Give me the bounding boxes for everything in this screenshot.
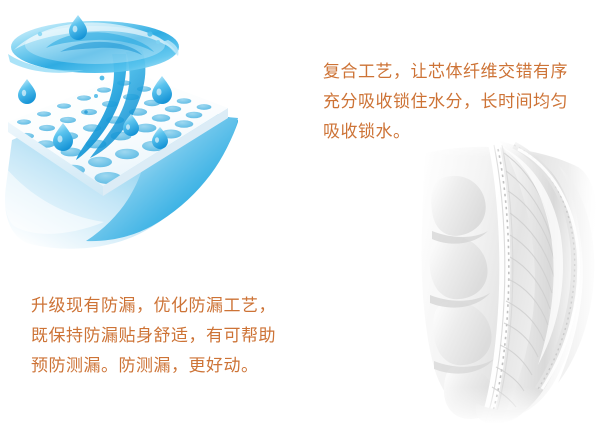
droplet-falling-top [69,15,87,40]
leak-guard-ruffle-photo [418,135,600,424]
leak-guard-copy-line-2: 既保持防漏贴身舒适，有可帮助 [31,321,276,351]
droplet-left-edge [18,79,36,104]
absorption-copy-line-2: 充分吸收锁住水分，长时间均匀 [323,87,568,117]
water-absorption-illustration [0,0,300,280]
absorption-copy-block: 复合工艺，让芯体纤维交错有序 充分吸收锁住水分，长时间均匀 吸收锁水。 [323,57,568,147]
leak-guard-copy-line-3: 预防测漏。防测漏，更好动。 [31,351,276,381]
product-detail-page: 复合工艺，让芯体纤维交错有序 充分吸收锁住水分，长时间均匀 吸收锁水。 升级现有… [0,0,600,424]
absorption-copy-line-1: 复合工艺，让芯体纤维交错有序 [323,57,568,87]
leak-guard-copy-line-1: 升级现有防漏，优化防漏工艺， [31,291,276,321]
leak-guard-copy-block: 升级现有防漏，优化防漏工艺， 既保持防漏贴身舒适，有可帮助 预防测漏。防测漏，更… [31,291,276,381]
droplet-right-upper [152,76,172,104]
